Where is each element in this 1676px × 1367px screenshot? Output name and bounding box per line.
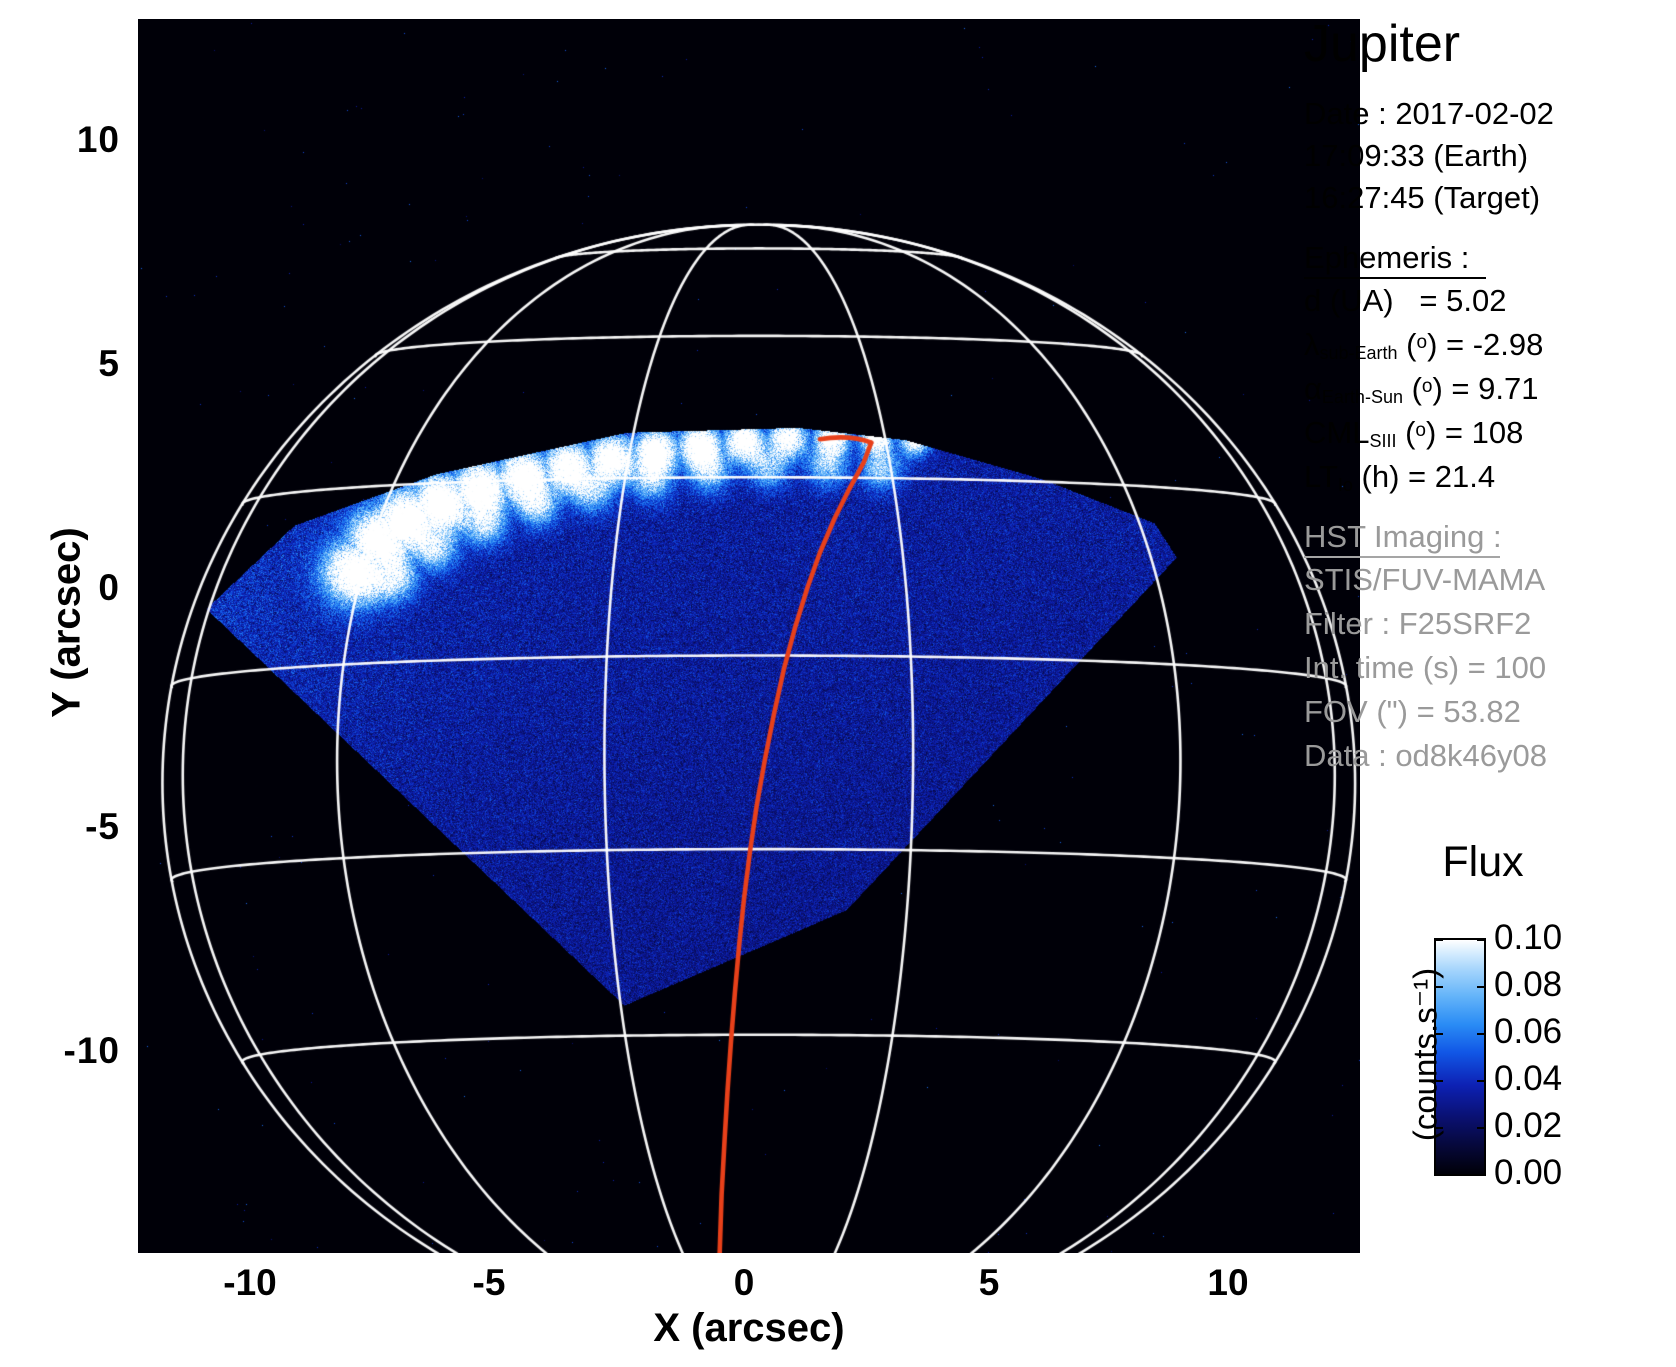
x-tick-label-minus-5: -5 bbox=[429, 1262, 549, 1304]
observation-time-earth: 17:09:33 (Earth) bbox=[1304, 138, 1528, 174]
ephemeris-value-cml: = 108 bbox=[1445, 415, 1523, 450]
x-tick-label-10: 10 bbox=[1168, 1262, 1288, 1304]
ephemeris-unit-d: (UA) bbox=[1321, 283, 1419, 318]
ephemeris-unit-alpha: (o) bbox=[1403, 371, 1451, 406]
ephemeris-value-d: = 5.02 bbox=[1419, 283, 1506, 318]
x-tick-label-5: 5 bbox=[929, 1262, 1049, 1304]
imaging-dataset-id: Data : od8k46y08 bbox=[1304, 738, 1547, 774]
ephemeris-value-lt: = 21.4 bbox=[1408, 459, 1495, 494]
colorbar-tick-000 bbox=[1434, 1174, 1486, 1176]
ephemeris-symbol-d: d bbox=[1304, 283, 1321, 318]
ephemeris-row-distance: d (UA) = 5.02 bbox=[1304, 283, 1506, 319]
aurora-image-plot bbox=[138, 19, 1360, 1253]
ephemeris-subscript-sub-earth: sub-Earth bbox=[1320, 343, 1398, 363]
colorbar-label-010: 0.10 bbox=[1494, 918, 1562, 958]
imaging-filter: Filter : F25SRF2 bbox=[1304, 606, 1531, 642]
y-tick-label-minus-10: -10 bbox=[10, 1030, 120, 1072]
ephemeris-value-lambda: = -2.98 bbox=[1446, 327, 1543, 362]
observation-date: Date : 2017-02-02 bbox=[1304, 96, 1554, 132]
ephemeris-unit-lambda: (o) bbox=[1398, 327, 1446, 362]
y-tick-label-minus-5: -5 bbox=[10, 806, 120, 848]
ephemeris-row-cml: CMLSIII (o) = 108 bbox=[1304, 415, 1523, 452]
ephemeris-symbol-cml: CML bbox=[1304, 415, 1369, 450]
colorbar-tick-008 bbox=[1434, 986, 1486, 988]
ephemeris-heading: Ephemeris : bbox=[1304, 240, 1469, 276]
ephemeris-subscript-io: Io bbox=[1338, 475, 1353, 495]
colorbar-label-006: 0.06 bbox=[1494, 1012, 1562, 1052]
ephemeris-row-sub-earth-latitude: λsub-Earth (o) = -2.98 bbox=[1304, 327, 1543, 364]
imaging-instrument: STIS/FUV-MAMA bbox=[1304, 562, 1545, 598]
colorbar-unit-label: (counts.s⁻¹) bbox=[1406, 925, 1445, 1185]
jupiter-aurora-image bbox=[138, 19, 1360, 1253]
ephemeris-subscript-earth-sun: Earth-Sun bbox=[1322, 387, 1403, 407]
y-tick-label-5: 5 bbox=[10, 343, 120, 385]
colorbar-tick-004 bbox=[1434, 1080, 1486, 1082]
x-axis-label: X (arcsec) bbox=[479, 1306, 1019, 1351]
ephemeris-symbol-lt: LT bbox=[1304, 459, 1338, 494]
y-axis-label: Y (arcsec) bbox=[45, 493, 90, 753]
ephemeris-unit-cml: (o) bbox=[1396, 415, 1444, 450]
colorbar-label-004: 0.04 bbox=[1494, 1059, 1562, 1099]
imaging-field-of-view: FOV (") = 53.82 bbox=[1304, 694, 1521, 730]
page-title: Jupiter bbox=[1304, 14, 1604, 74]
ephemeris-value-alpha: = 9.71 bbox=[1451, 371, 1538, 406]
x-tick-label-minus-10: -10 bbox=[190, 1262, 310, 1304]
x-tick-label-0: 0 bbox=[684, 1262, 804, 1304]
colorbar-tick-002 bbox=[1434, 1127, 1486, 1129]
ephemeris-heading-underline bbox=[1304, 277, 1486, 279]
ephemeris-row-phase-angle: αEarth-Sun (o) = 9.71 bbox=[1304, 371, 1538, 408]
ephemeris-unit-lt: (h) bbox=[1353, 459, 1408, 494]
observation-time-target: 16:27:45 (Target) bbox=[1304, 180, 1540, 216]
y-tick-label-10: 10 bbox=[10, 119, 120, 161]
colorbar-label-008: 0.08 bbox=[1494, 965, 1562, 1005]
colorbar-label-002: 0.02 bbox=[1494, 1106, 1562, 1146]
imaging-integration-time: Int. time (s) = 100 bbox=[1304, 650, 1546, 686]
ephemeris-subscript-siii: SIII bbox=[1369, 431, 1396, 451]
colorbar-label-000: 0.00 bbox=[1494, 1153, 1562, 1193]
colorbar-title: Flux bbox=[1403, 838, 1563, 887]
imaging-heading-underline bbox=[1304, 556, 1500, 558]
ephemeris-symbol-alpha: α bbox=[1304, 371, 1322, 406]
ephemeris-symbol-lambda: λ bbox=[1304, 327, 1320, 362]
colorbar-tick-010 bbox=[1434, 939, 1486, 941]
ephemeris-row-io-local-time: LTIo (h) = 21.4 bbox=[1304, 459, 1495, 496]
imaging-heading: HST Imaging : bbox=[1304, 519, 1502, 555]
colorbar-tick-006 bbox=[1434, 1033, 1486, 1035]
